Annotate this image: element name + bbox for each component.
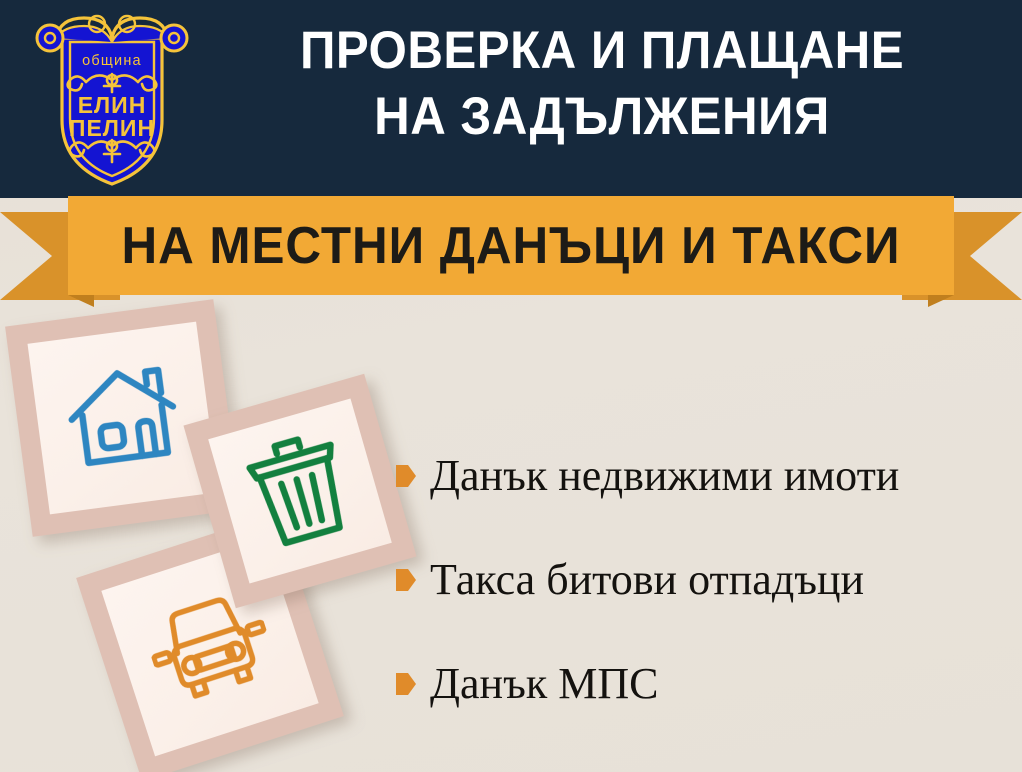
poster-canvas: община ЕЛИН ПЕЛИН ПРОВЕРКА И ПЛАЩАНЕ НА … (0, 0, 1022, 772)
subtitle-ribbon: НА МЕСТНИ ДАНЪЦИ И ТАКСИ (0, 196, 1022, 304)
ribbon-fold-right (928, 295, 954, 307)
tax-label-property: Данък недвижими имоти (430, 452, 899, 500)
trash-bin-icon (239, 426, 361, 556)
stamp-paper-house (28, 322, 219, 515)
tax-types-list: Данък недвижими имоти Такса битови отпад… (396, 424, 1016, 736)
ribbon-label: НА МЕСТНИ ДАНЪЦИ И ТАКСИ (121, 220, 900, 272)
stamp-paper-trash (208, 399, 392, 584)
ribbon-fold-left (68, 295, 94, 307)
list-item[interactable]: Данък МПС (396, 632, 1016, 736)
tax-label-waste: Такса битови отпадъци (430, 556, 864, 604)
municipality-logo: община ЕЛИН ПЕЛИН (34, 8, 190, 190)
coat-of-arms-icon: община ЕЛИН ПЕЛИН (34, 8, 190, 190)
tax-label-vehicle: Данък МПС (430, 660, 658, 708)
logo-word-obshtina: община (82, 53, 142, 69)
logo-word-pelin: ПЕЛИН (69, 115, 155, 141)
arrow-bullet-icon (396, 569, 416, 591)
house-icon (61, 359, 186, 477)
list-item[interactable]: Данък недвижими имоти (396, 424, 1016, 528)
list-item[interactable]: Такса битови отпадъци (396, 528, 1016, 632)
arrow-bullet-icon (396, 465, 416, 487)
ribbon-banner: НА МЕСТНИ ДАНЪЦИ И ТАКСИ (68, 196, 954, 295)
arrow-bullet-icon (396, 673, 416, 695)
car-icon (139, 583, 281, 711)
